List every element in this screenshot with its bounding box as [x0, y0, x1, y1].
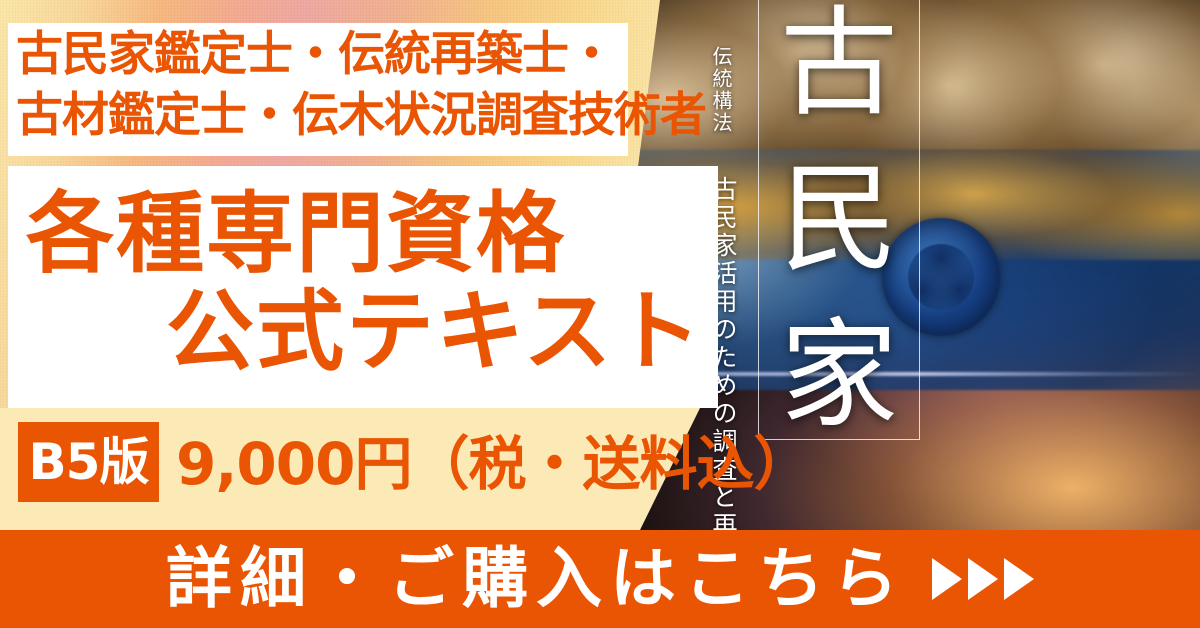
cta-arrow-group — [932, 558, 1034, 600]
cta-label: 詳細・ご購入はこちら — [166, 546, 906, 612]
certifications-text: 古民家鑑定士・伝統再築士・ 古材鑑定士・伝木状況調査技術者 — [16, 24, 716, 146]
cover-title-char-2: 民 — [780, 162, 898, 280]
format-badge: B5版 — [18, 422, 159, 502]
triangle-right-icon — [932, 558, 962, 600]
cover-title-char-3: 家 — [780, 318, 898, 436]
cover-title-vertical: 古 民 家 — [766, 6, 912, 436]
triangle-right-icon — [1004, 558, 1034, 600]
certifications-line-1: 古民家鑑定士・伝統再築士・ — [16, 24, 716, 85]
triangle-right-icon — [968, 558, 998, 600]
price-text: 9,000円（税・送料込） — [176, 428, 810, 501]
cover-title-char-1: 古 — [780, 6, 898, 124]
promo-banner: 古 民 家 伝統構法 古民家活用のための調査と再生の 古民家鑑定士・伝統再築士・… — [0, 0, 1200, 628]
headline-line-1: 各種専門資格 — [26, 190, 566, 278]
cta-bar[interactable]: 詳細・ご購入はこちら — [0, 530, 1200, 628]
certifications-line-2: 古材鑑定士・伝木状況調査技術者 — [16, 85, 716, 146]
headline-line-2: 公式テキスト — [166, 288, 703, 376]
